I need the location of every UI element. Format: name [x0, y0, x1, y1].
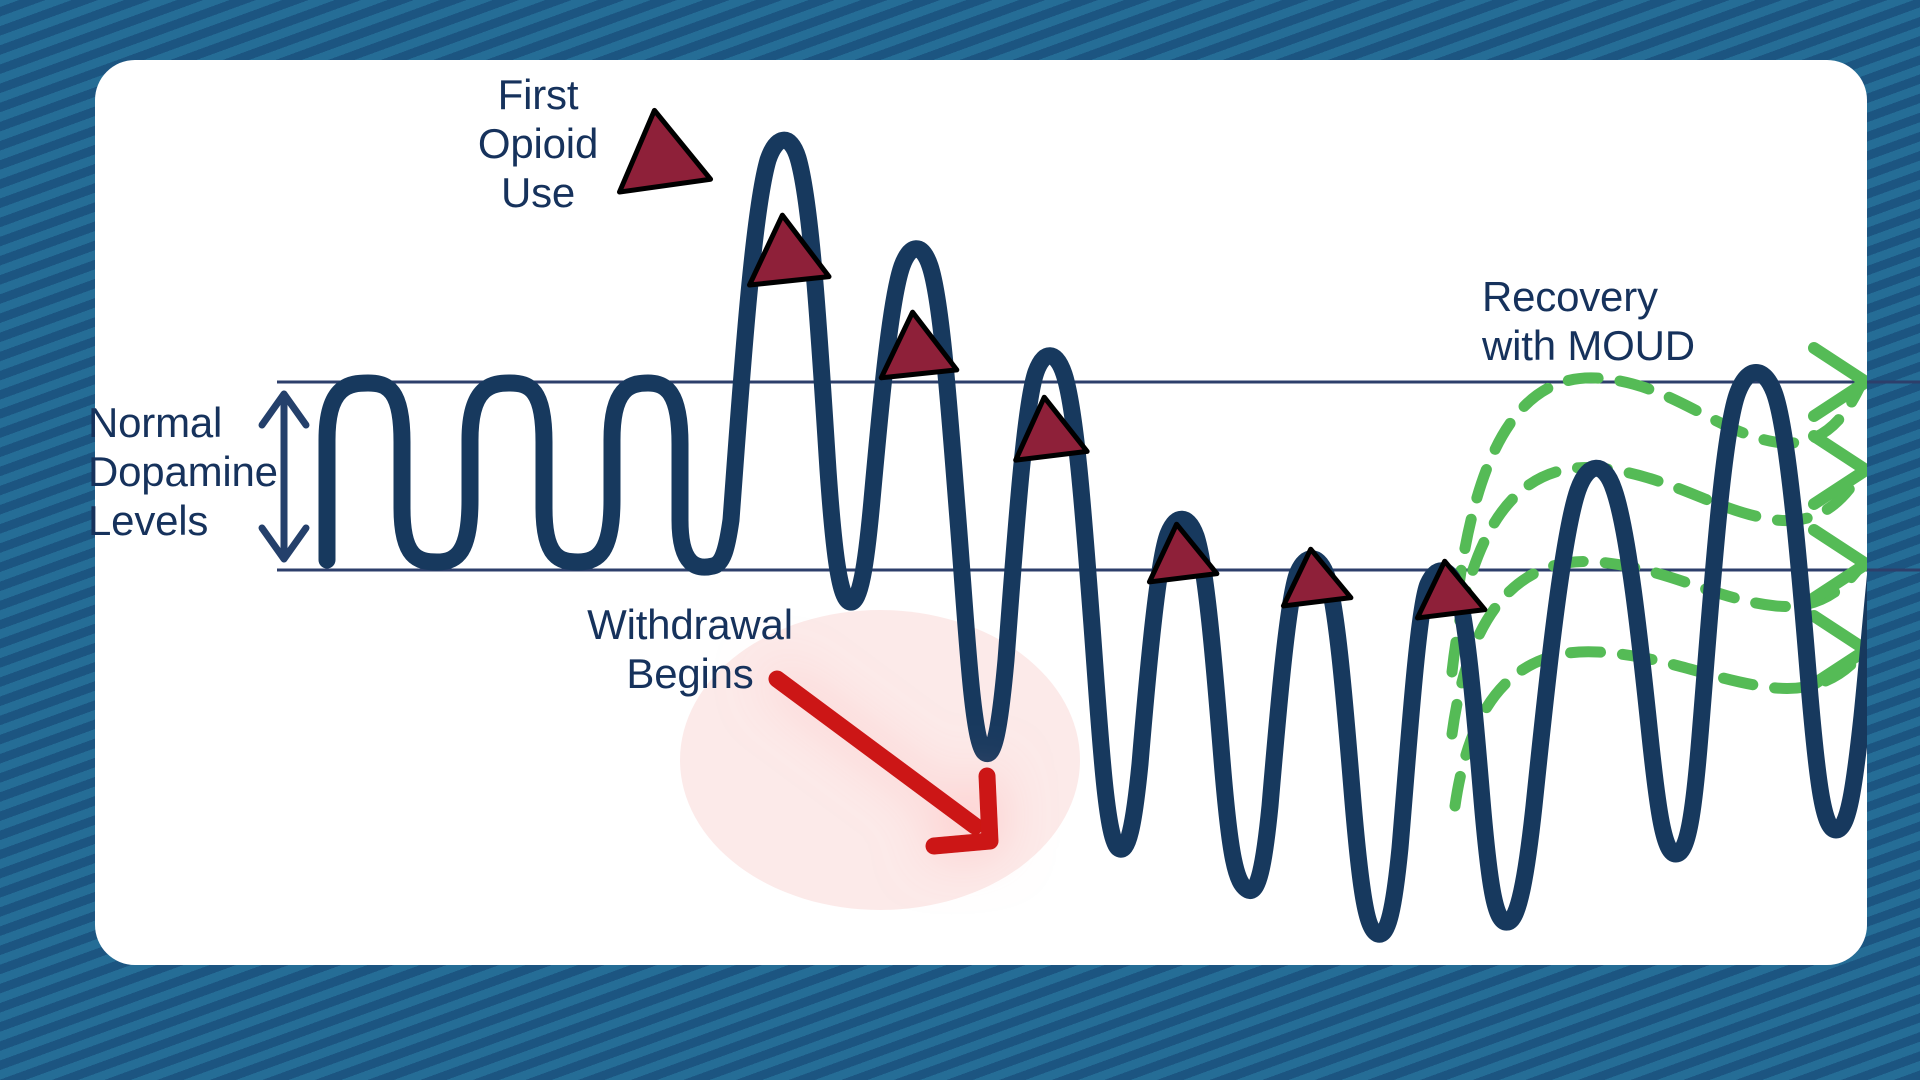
dopamine-line	[327, 140, 1920, 934]
normal-band-reference-lines	[277, 382, 1920, 570]
label-withdrawal-begins: Withdrawal Begins	[575, 600, 805, 698]
label-normal-dopamine-levels: Normal Dopamine Levels	[88, 398, 298, 545]
label-recovery-with-moud: Recovery with MOUD	[1482, 272, 1712, 370]
recovery-arrowhead-3	[1814, 530, 1866, 598]
label-first-opioid-use: First Opioid Use	[452, 70, 624, 217]
triangle-up-icon	[609, 104, 711, 192]
recovery-arrowhead-2	[1814, 436, 1866, 504]
dopamine-waveform	[327, 140, 1920, 934]
